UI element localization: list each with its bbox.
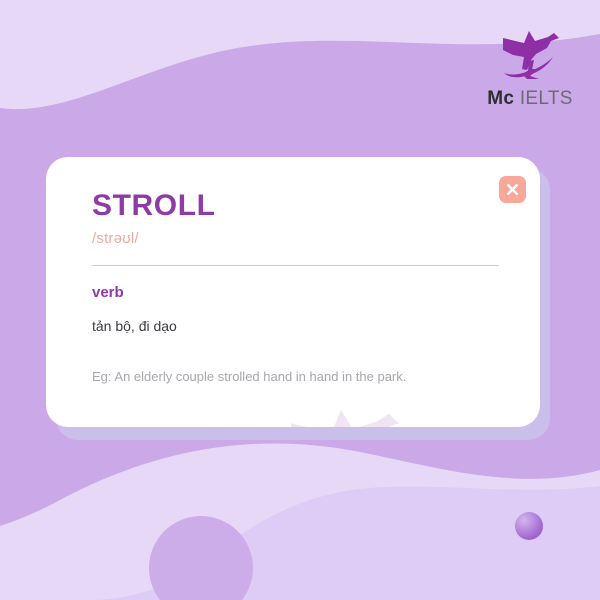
example-sentence: Eg: An elderly couple strolled hand in h… bbox=[92, 369, 496, 385]
definition-card: STROLL /strəʊl/ verb tản bộ, đi dạo Eg: … bbox=[46, 157, 540, 427]
vocabulary-flashcard-screen: Mc IELTS STROLL /strəʊl/ verb tản bộ, đi… bbox=[0, 0, 600, 600]
decorative-sphere bbox=[515, 512, 543, 540]
translation-text: tản bộ, đi dạo bbox=[92, 318, 496, 335]
part-of-speech: verb bbox=[92, 285, 496, 302]
hummingbird-icon bbox=[491, 24, 569, 84]
brand-name-bold: Mc bbox=[487, 88, 514, 109]
divider bbox=[92, 265, 499, 266]
brand-name: Mc IELTS bbox=[480, 89, 580, 108]
brand-logo: Mc IELTS bbox=[480, 24, 580, 120]
hummingbird-watermark-icon bbox=[268, 389, 418, 427]
phonetic-transcription: /strəʊl/ bbox=[92, 231, 496, 248]
brand-name-light: IELTS bbox=[520, 88, 573, 109]
word-title: STROLL bbox=[92, 189, 496, 222]
card-content: STROLL /strəʊl/ verb tản bộ, đi dạo Eg: … bbox=[46, 157, 540, 384]
